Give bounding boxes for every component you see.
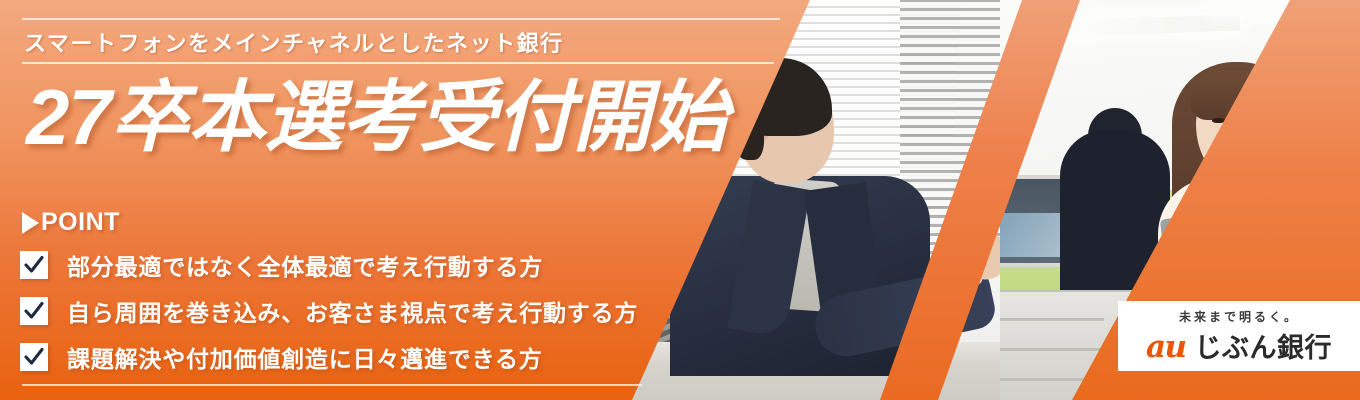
au-jibun-bank-logo: 未来まで明るく。 au じぶん銀行 — [1118, 301, 1360, 371]
point-label: POINT — [41, 208, 120, 237]
point-checklist: 部分最適ではなく全体最適で考え行動する方 自ら周囲を巻き込み、お客さま視点で考え… — [20, 248, 638, 374]
banner-subtitle: スマートフォンをメインチャネルとしたネット銀行 — [24, 26, 564, 58]
checkbox-checked-icon — [20, 343, 48, 371]
recruiting-banner: スマートフォンをメインチャネルとしたネット銀行 27卒本選考受付開始 POINT… — [0, 0, 1360, 400]
divider-bottom — [22, 384, 642, 386]
checkbox-checked-icon — [20, 251, 48, 279]
banner-headline: 27卒本選考受付開始 — [26, 78, 727, 156]
checklist-item-text: 課題解決や付加価値創造に日々邁進できる方 — [67, 340, 543, 374]
list-item: 部分最適ではなく全体最適で考え行動する方 — [20, 248, 638, 282]
checklist-item-text: 部分最適ではなく全体最適で考え行動する方 — [67, 248, 543, 282]
checkbox-checked-icon — [20, 297, 48, 325]
au-mark: au — [1146, 329, 1186, 365]
logo-tagline: 未来まで明るく。 — [1179, 308, 1299, 325]
point-heading: POINT — [22, 208, 120, 237]
divider-middle — [22, 62, 774, 64]
checklist-item-text: 自ら周囲を巻き込み、お客さま視点で考え行動する方 — [67, 294, 638, 328]
list-item: 自ら周囲を巻き込み、お客さま視点で考え行動する方 — [20, 294, 638, 328]
monitor-screen-decor — [1000, 213, 1062, 257]
bank-name: じぶん銀行 — [1195, 326, 1333, 365]
logo-wordmark: au じぶん銀行 — [1146, 326, 1332, 365]
woman-eye-left-decor — [1212, 118, 1225, 123]
list-item: 課題解決や付加価値創造に日々邁進できる方 — [20, 340, 638, 374]
divider-top — [22, 18, 780, 20]
triangle-right-icon — [22, 212, 39, 234]
